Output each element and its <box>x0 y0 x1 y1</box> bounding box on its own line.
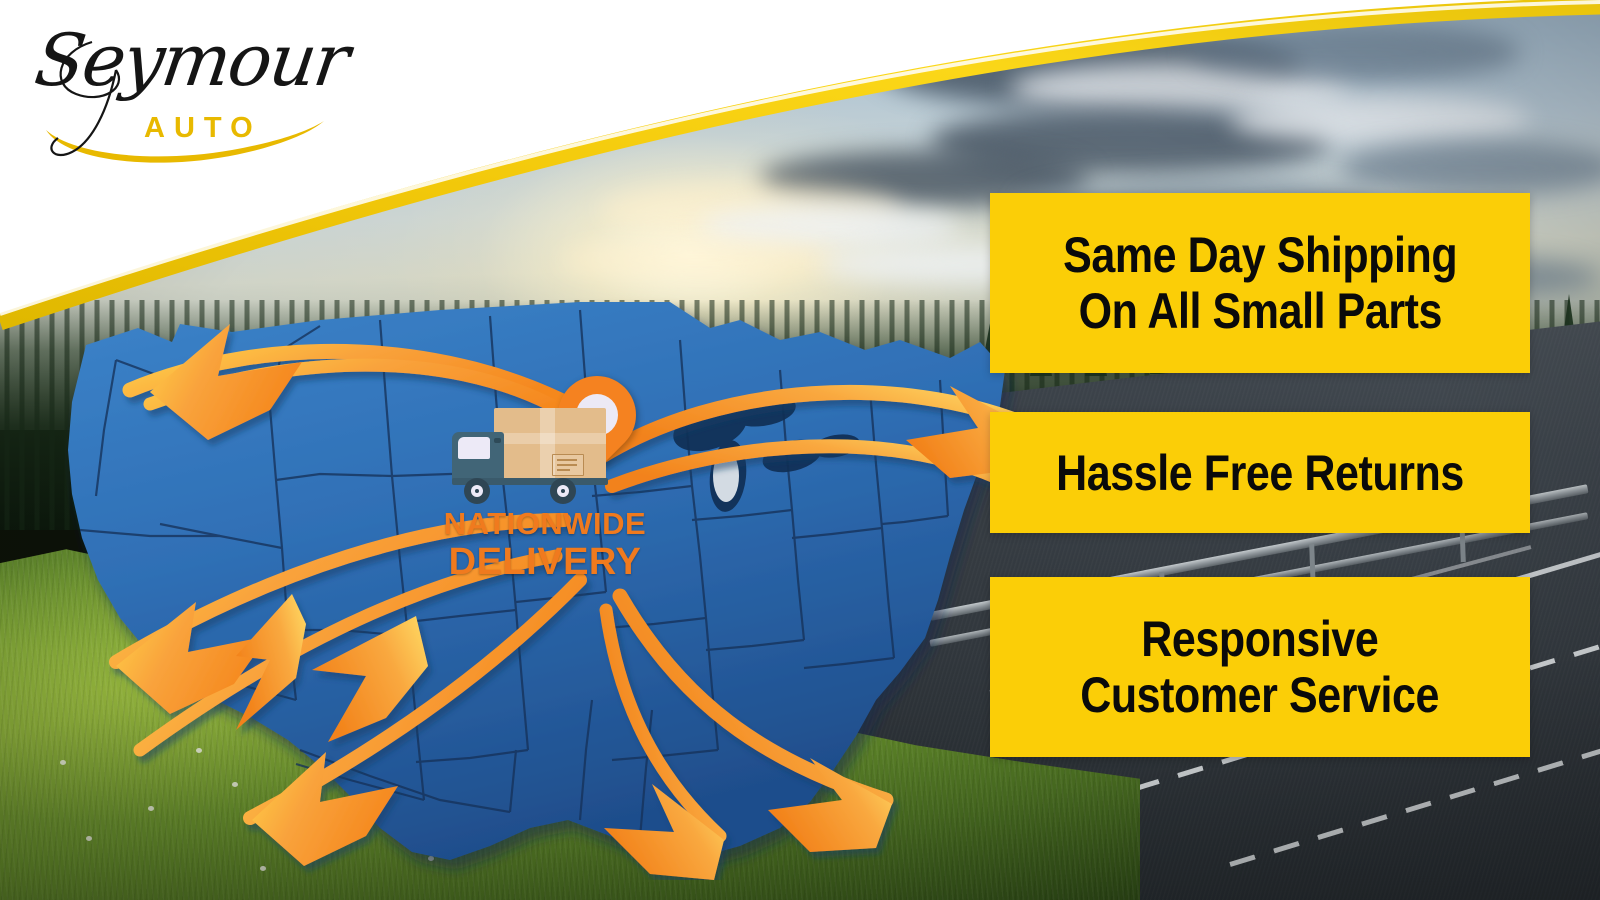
cardboard-box <box>494 408 606 480</box>
feature-box-same-day-shipping[interactable]: Same Day Shipping On All Small Parts <box>990 193 1530 373</box>
nationwide-delivery-graphic: NATIONWIDE DELIVERY <box>430 368 660 583</box>
feature-box-responsive-customer-service[interactable]: Responsive Customer Service <box>990 577 1530 757</box>
feature-box-hassle-free-returns[interactable]: Hassle Free Returns <box>990 412 1530 533</box>
feature-line: On All Small Parts <box>1078 283 1441 339</box>
truck-window <box>458 437 490 459</box>
logo-subtitle: AUTO <box>144 114 262 143</box>
shipping-label-icon <box>552 454 584 476</box>
truck-wheel <box>464 478 490 504</box>
delivery-caption: NATIONWIDE DELIVERY <box>430 508 660 581</box>
truck-mirror <box>494 438 501 443</box>
delivery-caption-line2: DELIVERY <box>430 543 660 581</box>
feature-line: Hassle Free Returns <box>1056 445 1464 501</box>
feature-line: Customer Service <box>1081 667 1440 723</box>
box-tape-horizontal <box>494 433 606 444</box>
promotional-banner: NATIONWIDE DELIVERY Seymour AUTO <box>0 0 1600 900</box>
delivery-caption-line1: NATIONWIDE <box>430 508 660 539</box>
brand-logo[interactable]: Seymour AUTO <box>32 18 332 168</box>
feature-line: Responsive <box>1141 611 1378 667</box>
delivery-truck-icon <box>452 408 612 508</box>
truck-wheel <box>550 478 576 504</box>
logo-wordmark: Seymour <box>31 24 352 96</box>
feature-line: Same Day Shipping <box>1063 227 1457 283</box>
